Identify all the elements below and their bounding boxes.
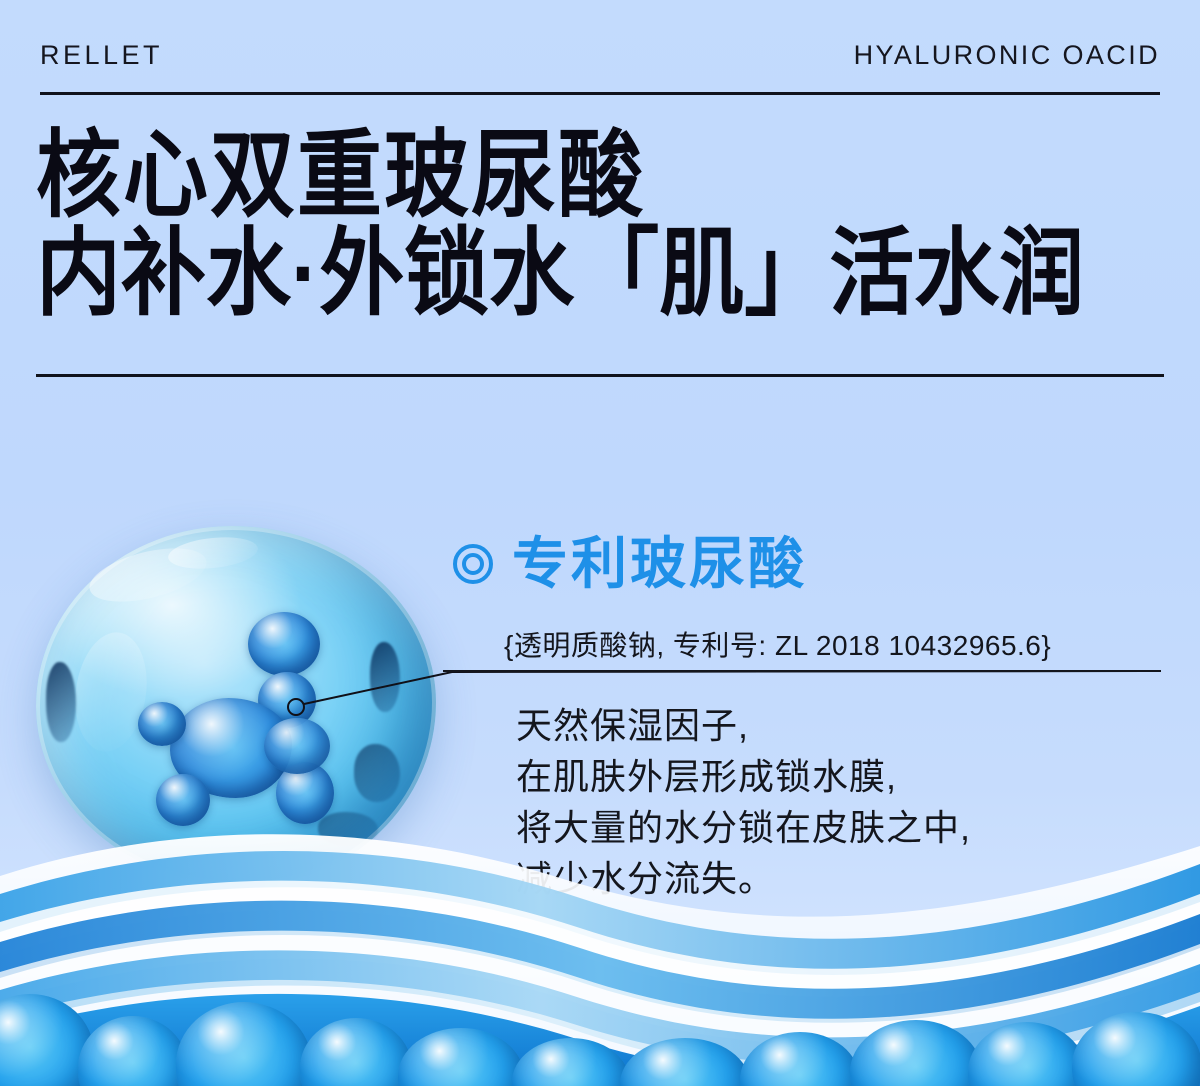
gel-bead — [1072, 1012, 1200, 1086]
poster-canvas: RELLET HYALURONIC OACID 核心双重玻尿酸 内补水·外锁水「… — [0, 0, 1200, 1086]
sphere-shadow-right — [370, 642, 400, 712]
headline-line-1: 核心双重玻尿酸 — [36, 122, 1171, 232]
brand-name: RELLET — [40, 40, 163, 71]
gel-bead — [78, 1016, 188, 1086]
header-subtitle: HYALURONIC OACID — [854, 40, 1160, 71]
gel-bead — [620, 1038, 750, 1086]
headline-divider — [36, 374, 1164, 377]
gel-bead — [512, 1038, 630, 1086]
gel-bead — [300, 1018, 412, 1086]
gel-bead — [968, 1022, 1086, 1086]
gel-bead — [740, 1032, 860, 1086]
double-circle-icon — [452, 543, 494, 585]
gel-bead — [398, 1028, 524, 1086]
gel-bead — [850, 1020, 982, 1086]
headline-line-2: 内补水·外锁水「肌」活水润 — [36, 220, 1171, 330]
molecule-bubble-top — [248, 612, 320, 676]
section-title: 专利玻尿酸 — [452, 536, 807, 592]
gel-bead-strip — [0, 956, 1200, 1086]
header-divider — [40, 92, 1160, 95]
gel-bead — [176, 1002, 312, 1086]
headline-block: 核心双重玻尿酸 内补水·外锁水「肌」活水润 — [36, 122, 1171, 318]
patent-divider — [443, 670, 1161, 672]
section-title-text: 专利玻尿酸 — [512, 536, 807, 592]
header: RELLET HYALURONIC OACID — [40, 40, 1160, 98]
patent-note: {透明质酸钠, 专利号: ZL 2018 10432965.6} — [504, 624, 1051, 664]
